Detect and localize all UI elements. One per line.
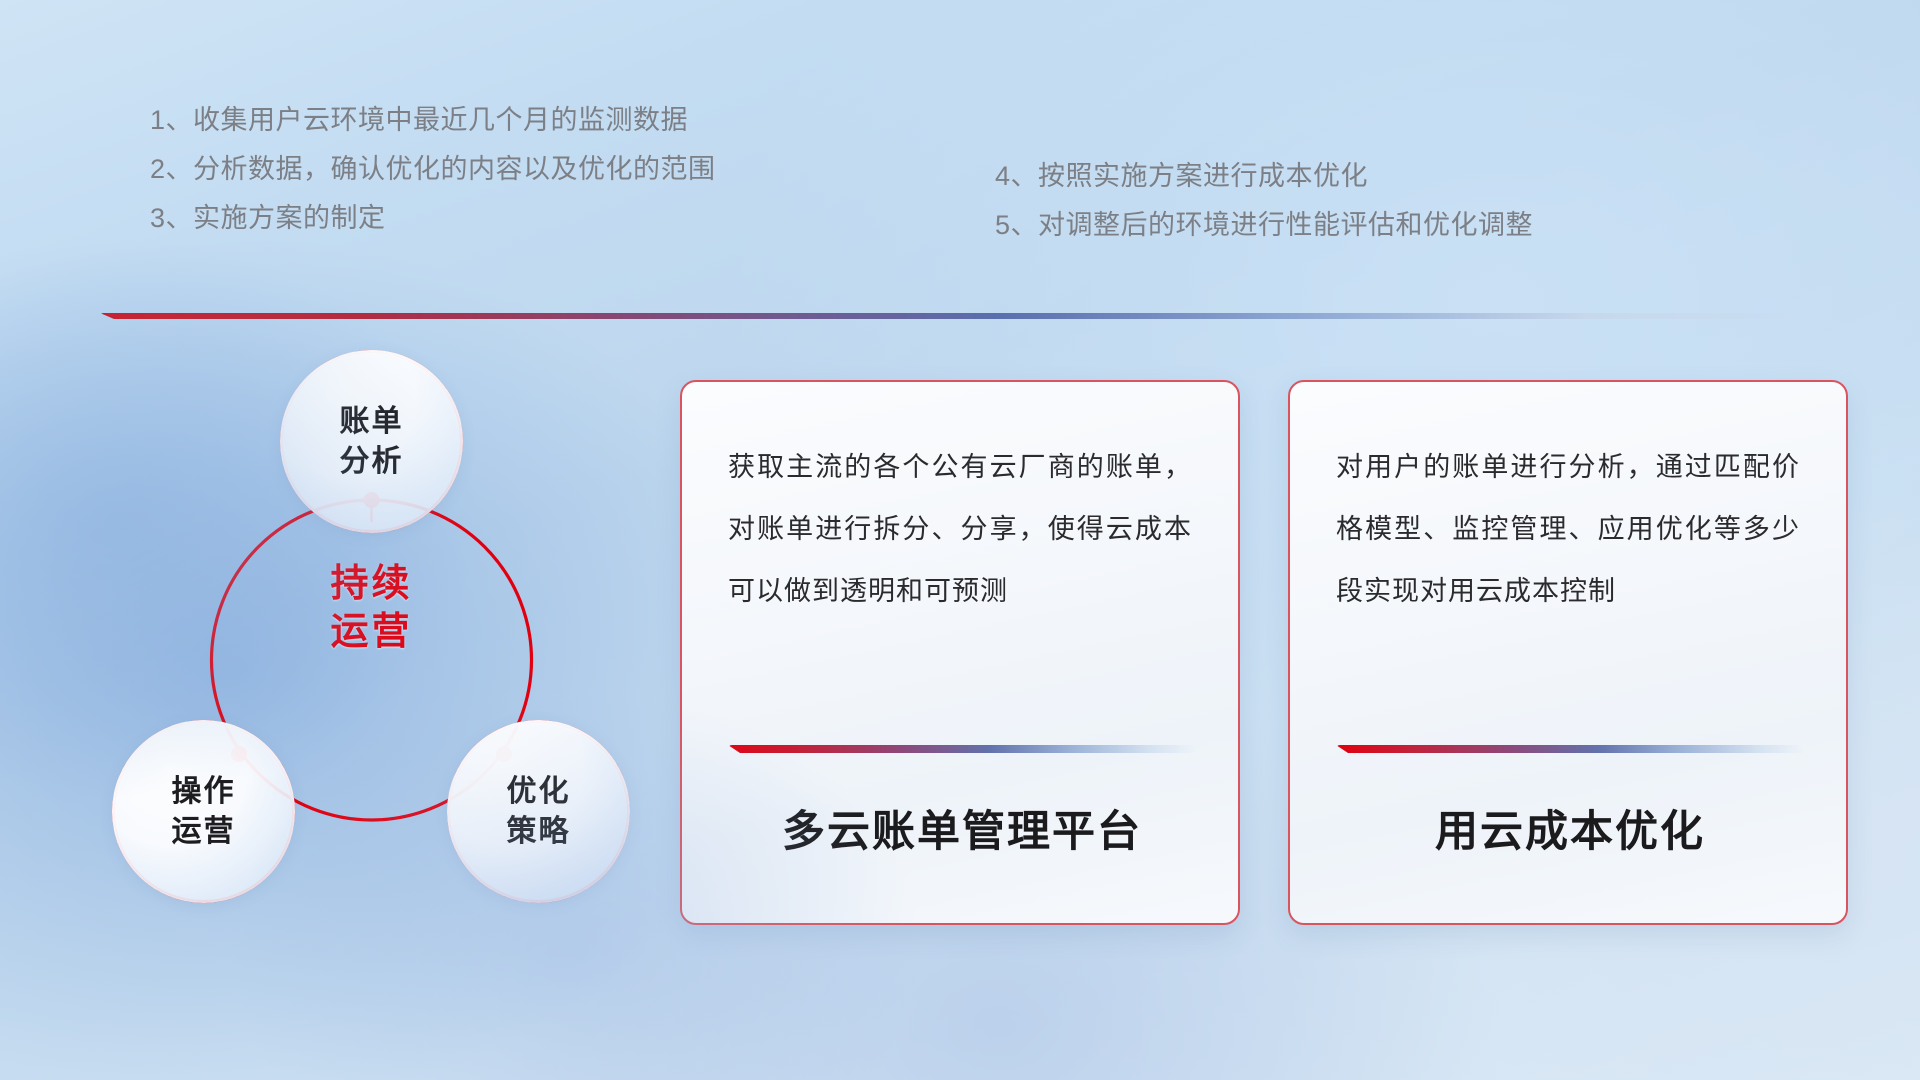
- venn-center-label-line1: 持续: [280, 560, 463, 608]
- card-title: 用云成本优化: [1336, 797, 1804, 859]
- steps-column-right: 4、按照实施方案进行成本优化 5、对调整后的环境进行性能评估和优化调整: [995, 152, 1533, 250]
- card-title: 多云账单管理平台: [728, 797, 1196, 859]
- venn-bubble-label-line2: 运营: [172, 812, 236, 852]
- venn-center-label: 持续 运营: [280, 560, 463, 656]
- card-accent-rule: [728, 745, 1196, 753]
- venn-diagram: 账单 分析 操作 运营 优化 策略 持续 运营: [90, 350, 650, 950]
- card-multicloud-billing-platform[interactable]: 获取主流的各个公有云厂商的账单，对账单进行拆分、分享，使得云成本可以做到透明和可…: [680, 380, 1240, 925]
- step-item-2: 2、分析数据，确认优化的内容以及优化的范围: [150, 145, 716, 194]
- steps-column-left: 1、收集用户云环境中最近几个月的监测数据 2、分析数据，确认优化的内容以及优化的…: [150, 96, 716, 243]
- step-item-5: 5、对调整后的环境进行性能评估和优化调整: [995, 201, 1533, 250]
- card-accent-rule: [1336, 745, 1804, 753]
- venn-bubble-label-line2: 分析: [340, 442, 404, 482]
- venn-bubble-optimization-strategy[interactable]: 优化 策略: [447, 720, 630, 903]
- step-item-1: 1、收集用户云环境中最近几个月的监测数据: [150, 96, 716, 145]
- venn-bubble-label-line1: 优化: [507, 772, 571, 812]
- venn-bubble-billing-analysis[interactable]: 账单 分析: [280, 350, 463, 533]
- card-body-text: 对用户的账单进行分析，通过匹配价格模型、监控管理、应用优化等多少段实现对用云成本…: [1336, 436, 1800, 622]
- venn-bubble-label-line2: 策略: [507, 812, 571, 852]
- step-item-4: 4、按照实施方案进行成本优化: [995, 152, 1533, 201]
- slide-canvas: 1、收集用户云环境中最近几个月的监测数据 2、分析数据，确认优化的内容以及优化的…: [0, 0, 1920, 1080]
- venn-center-label-line2: 运营: [280, 608, 463, 656]
- step-item-3: 3、实施方案的制定: [150, 194, 716, 243]
- venn-bubble-label-line1: 账单: [340, 402, 404, 442]
- venn-bubble-label-line1: 操作: [172, 772, 236, 812]
- venn-bubble-operations[interactable]: 操作 运营: [112, 720, 295, 903]
- steps-section: 1、收集用户云环境中最近几个月的监测数据 2、分析数据，确认优化的内容以及优化的…: [0, 0, 1920, 300]
- section-divider: [100, 313, 1830, 319]
- card-cloud-cost-optimization[interactable]: 对用户的账单进行分析，通过匹配价格模型、监控管理、应用优化等多少段实现对用云成本…: [1288, 380, 1848, 925]
- card-body-text: 获取主流的各个公有云厂商的账单，对账单进行拆分、分享，使得云成本可以做到透明和可…: [728, 436, 1192, 622]
